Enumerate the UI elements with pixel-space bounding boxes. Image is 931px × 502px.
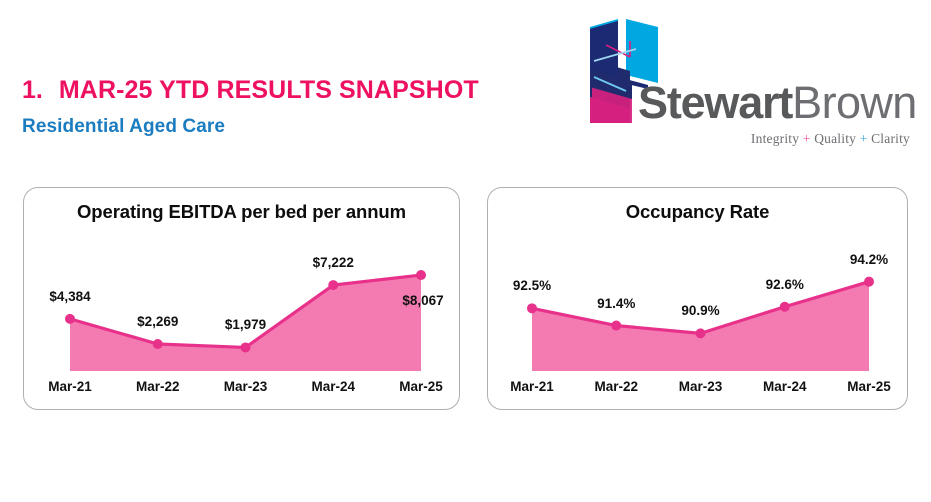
slide-header: 1.MAR-25 YTD RESULTS SNAPSHOT Residentia… <box>0 0 931 175</box>
logo-wordmark: StewartBrown <box>638 80 917 125</box>
chart-data-point <box>416 270 426 280</box>
tagline-integrity: Integrity <box>751 131 799 146</box>
logo-tagline: Integrity + Quality + Clarity <box>751 131 910 147</box>
chart-plot-occupancy: 92.5%91.4%90.9%92.6%94.2% <box>488 188 907 409</box>
tagline-separator-2: + <box>860 131 868 146</box>
chart-data-point <box>527 303 537 313</box>
chart-data-point <box>328 280 338 290</box>
chart-axis-label: Mar-25 <box>399 379 443 394</box>
chart-point-label: $7,222 <box>313 255 354 270</box>
chart-point-label: $4,384 <box>49 289 90 304</box>
chart-axis-label: Mar-23 <box>679 379 723 394</box>
chart-point-label: 90.9% <box>681 303 719 318</box>
chart-x-axis-ebitda: Mar-21Mar-22Mar-23Mar-24Mar-25 <box>24 379 459 395</box>
chart-svg-occupancy <box>488 188 909 411</box>
chart-point-label: 92.6% <box>766 277 804 292</box>
chart-card-occupancy: Occupancy Rate 92.5%91.4%90.9%92.6%94.2%… <box>487 187 908 410</box>
page-title: 1.MAR-25 YTD RESULTS SNAPSHOT <box>22 76 479 105</box>
logo-word-stewart: Stewart <box>638 77 792 128</box>
chart-axis-label: Mar-25 <box>847 379 891 394</box>
chart-card-ebitda: Operating EBITDA per bed per annum $4,38… <box>23 187 460 410</box>
slide-title-text: MAR-25 YTD RESULTS SNAPSHOT <box>59 76 479 105</box>
chart-axis-label: Mar-24 <box>311 379 355 394</box>
tagline-separator-1: + <box>803 131 811 146</box>
chart-axis-label: Mar-22 <box>594 379 638 394</box>
chart-axis-label: Mar-23 <box>224 379 268 394</box>
slide-subtitle: Residential Aged Care <box>22 116 225 138</box>
chart-axis-label: Mar-24 <box>763 379 807 394</box>
tagline-clarity: Clarity <box>871 131 910 146</box>
chart-data-point <box>153 339 163 349</box>
chart-axis-label: Mar-21 <box>510 379 554 394</box>
chart-data-point <box>780 302 790 312</box>
chart-axis-label: Mar-22 <box>136 379 180 394</box>
tagline-quality: Quality <box>814 131 856 146</box>
chart-data-point <box>696 328 706 338</box>
logo-word-brown: Brown <box>792 77 917 128</box>
chart-point-label: $8,067 <box>402 293 443 308</box>
chart-x-axis-occupancy: Mar-21Mar-22Mar-23Mar-24Mar-25 <box>488 379 907 395</box>
chart-point-label: $1,979 <box>225 317 266 332</box>
chart-data-point <box>241 342 251 352</box>
chart-data-point <box>864 277 874 287</box>
slide-number: 1. <box>22 76 43 105</box>
chart-axis-label: Mar-21 <box>48 379 92 394</box>
stewartbrown-logo: StewartBrown Integrity + Quality + Clari… <box>570 12 920 157</box>
chart-point-label: $2,269 <box>137 314 178 329</box>
chart-data-point <box>65 314 75 324</box>
chart-point-label: 91.4% <box>597 296 635 311</box>
chart-point-label: 92.5% <box>513 278 551 293</box>
chart-plot-ebitda: $4,384$2,269$1,979$7,222$8,067 <box>24 188 459 409</box>
chart-data-point <box>611 321 621 331</box>
chart-point-label: 94.2% <box>850 252 888 267</box>
